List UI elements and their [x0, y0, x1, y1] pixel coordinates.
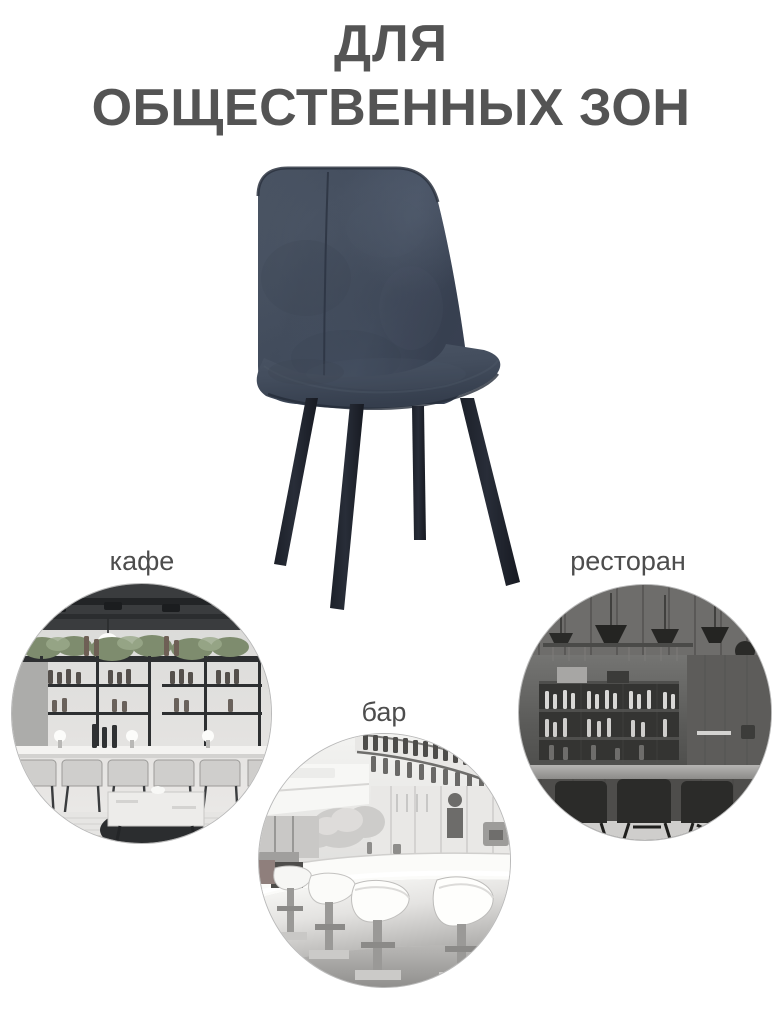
chair-illustration	[236, 158, 536, 618]
bar-interior-photo	[258, 733, 511, 988]
chair-legs	[274, 398, 520, 610]
page-title: ДЛЯ ОБЩЕСТВЕННЫХ ЗОН	[0, 18, 782, 134]
venue-label-restaurant: ресторан	[538, 548, 718, 575]
venue-label-bar: бар	[314, 699, 454, 726]
cafe-interior-photo	[11, 583, 272, 844]
restaurant-interior-photo	[518, 584, 772, 841]
product-banner: ДЛЯ ОБЩЕСТВЕННЫХ ЗОН	[0, 0, 782, 1016]
page-title-line-2: ОБЩЕСТВЕННЫХ ЗОН	[0, 82, 782, 134]
venue-label-cafe: кафе	[62, 548, 222, 575]
page-title-line-1: ДЛЯ	[0, 18, 782, 70]
